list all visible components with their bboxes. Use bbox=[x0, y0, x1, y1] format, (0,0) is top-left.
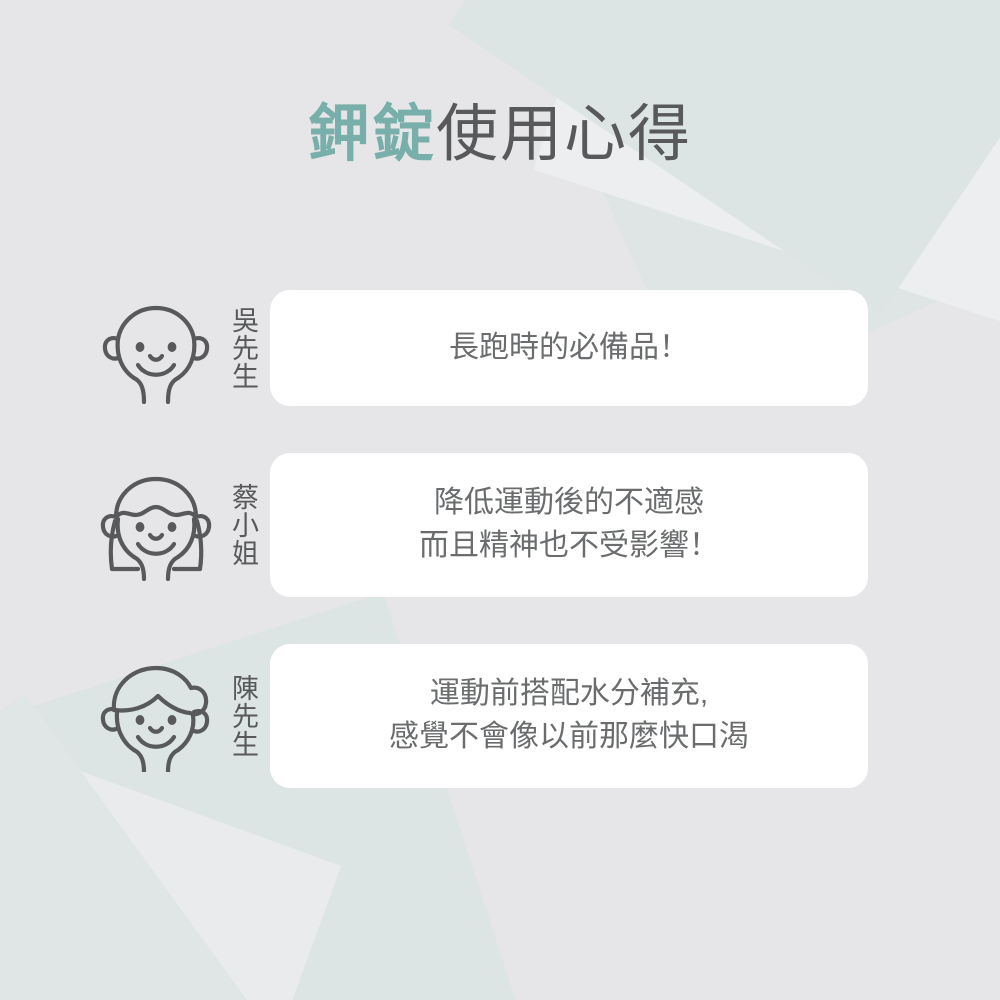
wavy-hair-woman-face-icon bbox=[96, 469, 216, 581]
page-title-plain: 使用心得 bbox=[436, 100, 692, 169]
testimonial-row: 吳先生 長跑時的必備品！ bbox=[0, 290, 1000, 406]
testimonial-row: 陳先生 運動前搭配水分補充, 感覺不會像以前那麼快口渴 bbox=[0, 644, 1000, 788]
testimonial-poster: 鉀錠使用心得 bbox=[0, 0, 1000, 1000]
person-name: 陳先生 bbox=[224, 674, 258, 758]
bald-man-face-icon bbox=[96, 292, 216, 404]
testimonial-quote: 運動前搭配水分補充, 感覺不會像以前那麼快口渴 bbox=[270, 644, 868, 788]
testimonial-row: 蔡小姐 降低運動後的不適感 而且精神也不受影響！ bbox=[0, 453, 1000, 597]
person-name: 蔡小姐 bbox=[224, 483, 258, 567]
page-title-accent: 鉀錠 bbox=[308, 100, 436, 169]
page-title: 鉀錠使用心得 bbox=[0, 104, 1000, 166]
swoop-hair-man-face-icon bbox=[96, 660, 216, 772]
testimonial-quote: 降低運動後的不適感 而且精神也不受影響！ bbox=[270, 453, 868, 597]
testimonial-quote: 長跑時的必備品！ bbox=[270, 290, 868, 406]
testimonial-list: 吳先生 長跑時的必備品！ bbox=[0, 290, 1000, 788]
person-name: 吳先生 bbox=[224, 306, 258, 390]
